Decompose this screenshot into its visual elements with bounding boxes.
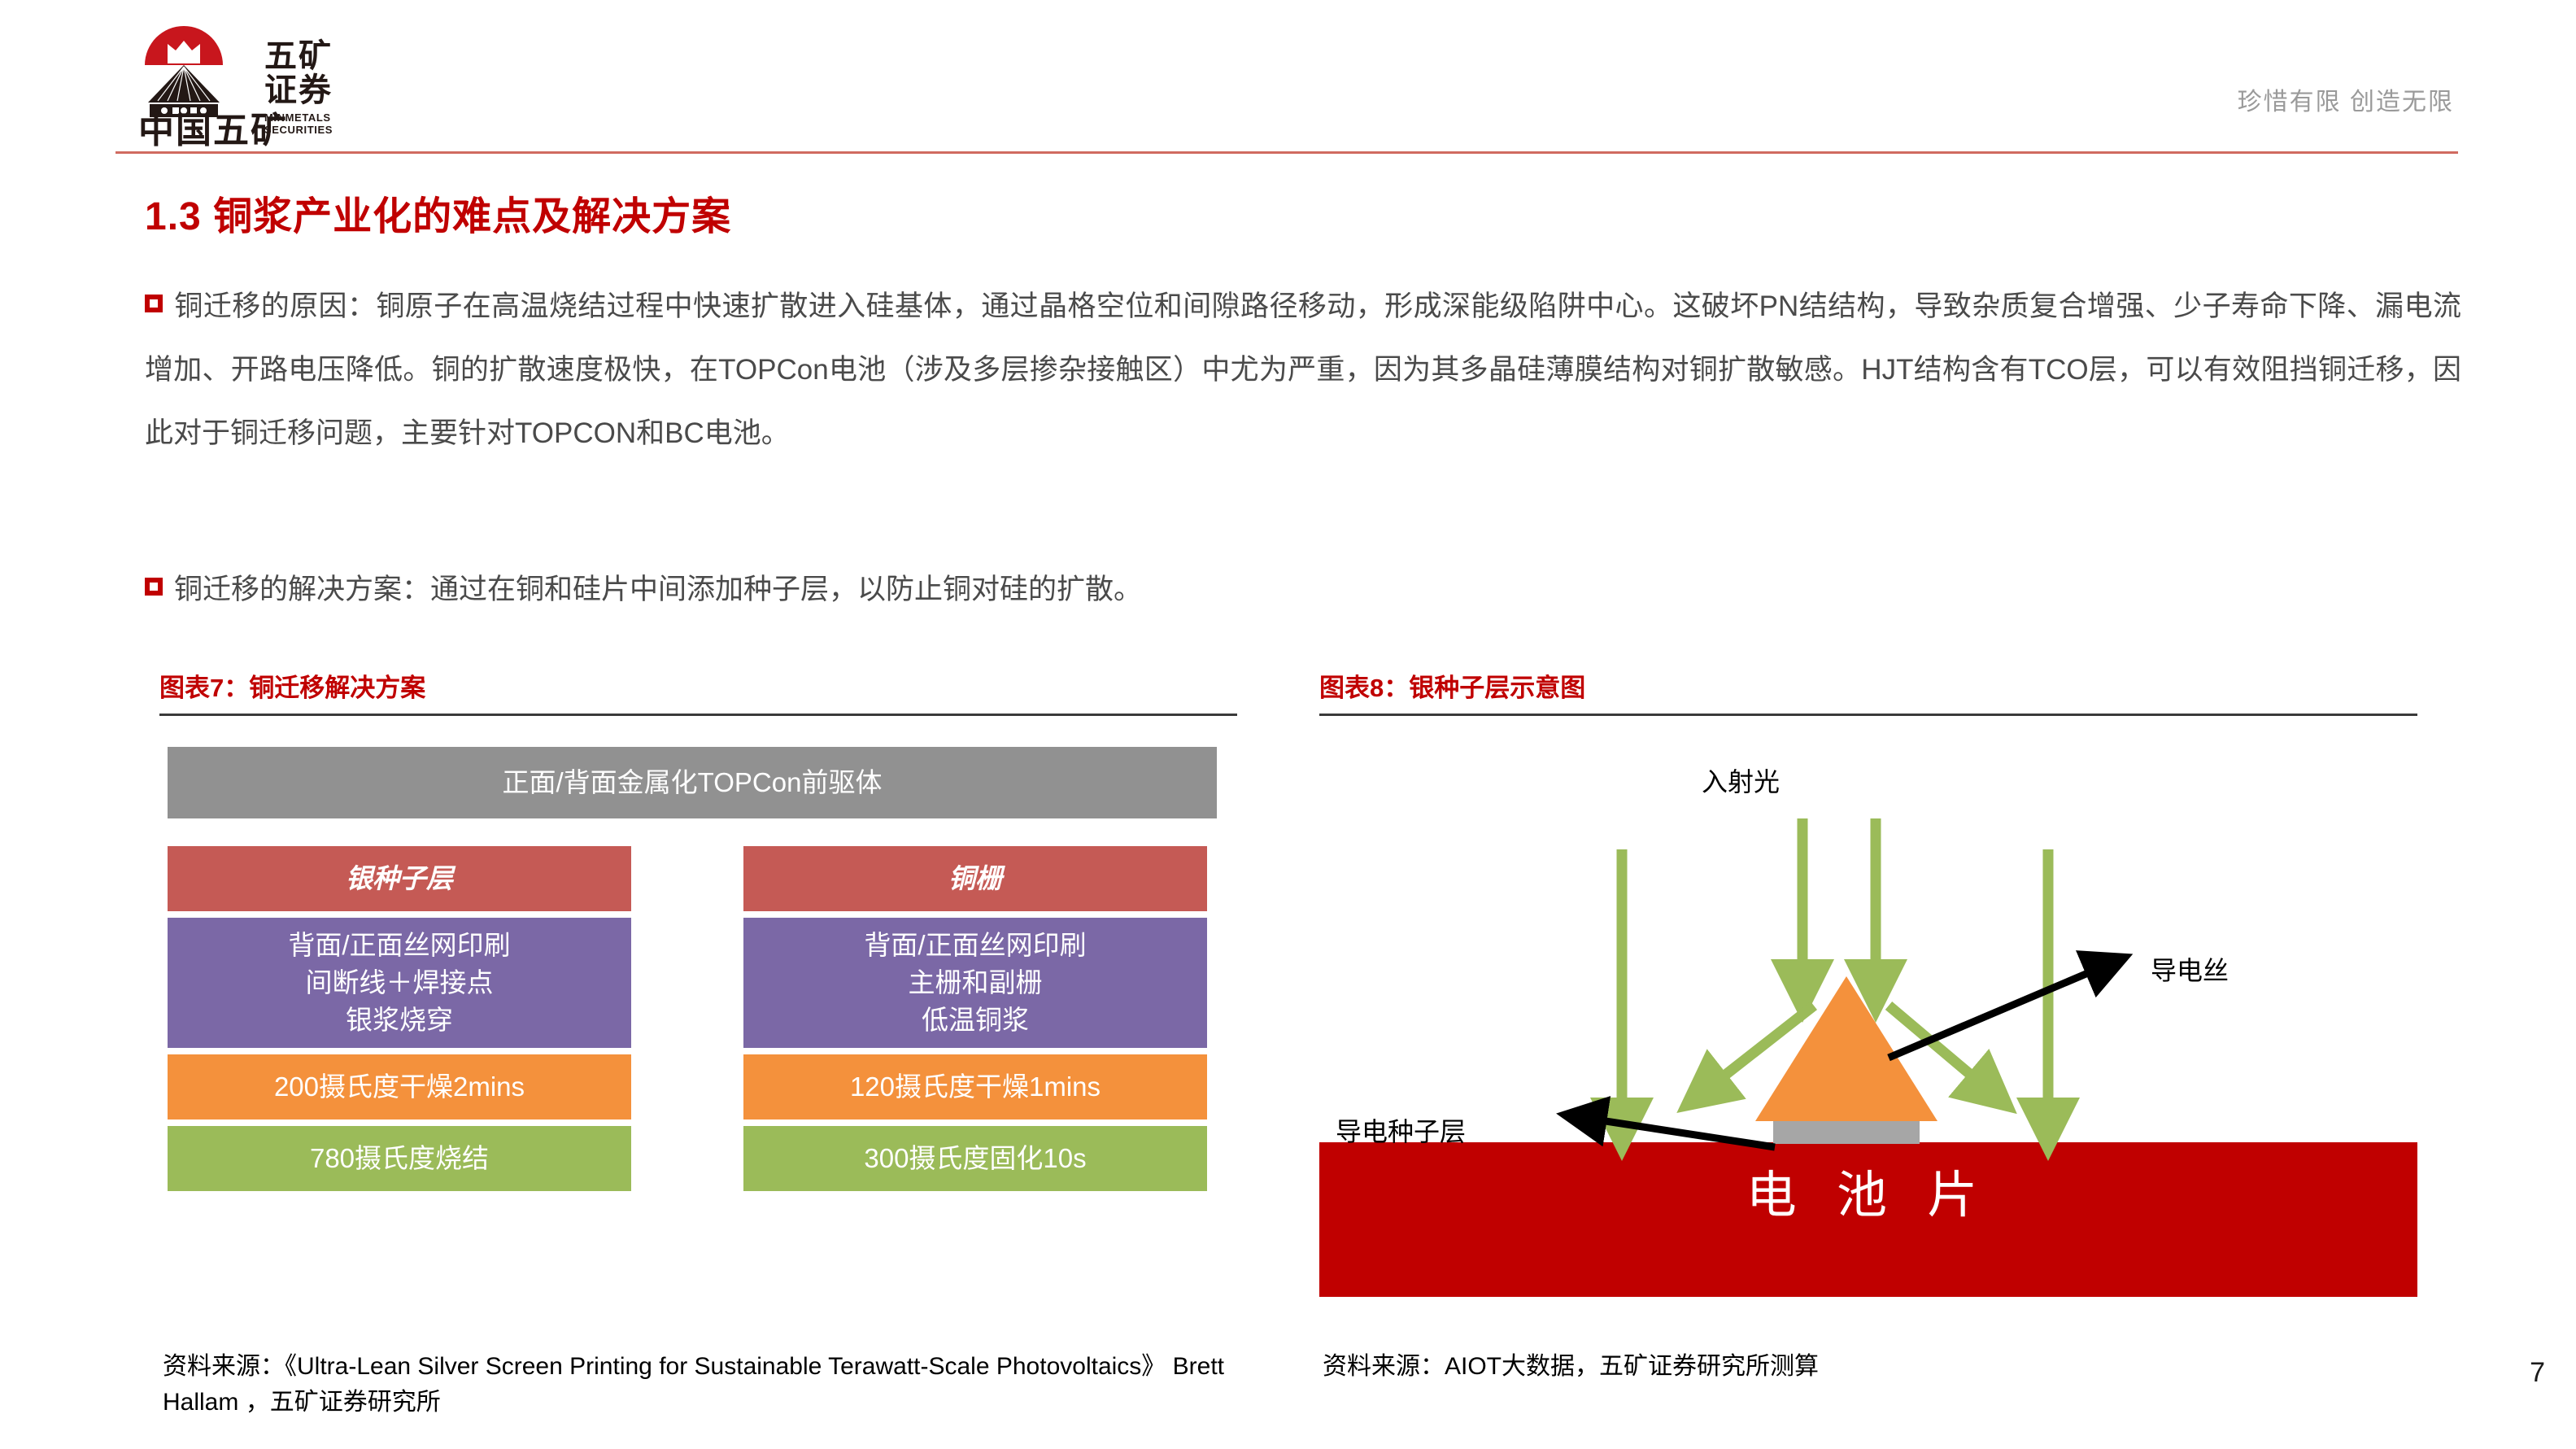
flow-box-screen-print-left: 背面/正面丝网印刷 间断线＋焊接点 银浆烧穿	[168, 918, 631, 1048]
flow-box-dry-right: 120摄氏度干燥1mins	[743, 1054, 1207, 1119]
logo-securities-name: 五矿证券 MINMETALS SECURITIES	[264, 39, 333, 136]
label-incident-light: 入射光	[1702, 762, 1780, 799]
page-header: 中国五矿 五矿证券 MINMETALS SECURITIES 珍惜有限 创造无限	[0, 0, 2576, 148]
company-logo: 中国五矿 五矿证券 MINMETALS SECURITIES	[138, 15, 229, 137]
flow-box-copper-grid: 铜栅	[743, 846, 1207, 911]
logo-cn-sub: MINMETALS SECURITIES	[264, 111, 333, 136]
figure-8-source: 资料来源：AIOT大数据，五矿证券研究所测算	[1323, 1349, 2421, 1385]
bullet-square-icon	[145, 295, 163, 312]
label-cell: 电 池 片	[1319, 1154, 2417, 1227]
flow-box-dry-left: 200摄氏度干燥2mins	[168, 1054, 631, 1119]
flow-box-cure-right: 300摄氏度固化10s	[743, 1126, 1207, 1191]
figure-8-caption: 图表8：银种子层示意图	[1319, 667, 2417, 714]
figure-7-caption: 图表7：铜迁移解决方案	[159, 667, 1237, 714]
figure-7-divider	[159, 714, 1237, 716]
bullet-square-icon	[145, 578, 163, 596]
figure-7: 图表7：铜迁移解决方案 正面/背面金属化TOPCon前驱体 银种子层 铜栅 背面…	[159, 667, 1237, 1300]
label-conductive-seed-layer: 导电种子层	[1336, 1111, 1466, 1149]
flow-box-fire-left: 780摄氏度烧结	[168, 1126, 631, 1191]
page-number: 7	[2530, 1357, 2545, 1389]
flow-box-screen-print-right: 背面/正面丝网印刷 主栅和副栅 低温铜浆	[743, 918, 1207, 1048]
flowchart-copper-migration-solution: 正面/背面金属化TOPCon前驱体 银种子层 铜栅 背面/正面丝网印刷 间断线＋…	[159, 747, 1237, 1300]
header-divider	[116, 151, 2458, 154]
flow-box-silver-seed-layer: 银种子层	[168, 846, 631, 911]
schematic-silver-seed-layer: 入射光 导电丝 导电种子层 电 池 片	[1319, 747, 2417, 1300]
paragraph-cause: 铜迁移的原因：铜原子在高温烧结过程中快速扩散进入硅基体，通过晶格空位和间隙路径移…	[145, 275, 2461, 465]
page-title: 1.3 铜浆产业化的难点及解决方案	[145, 184, 731, 241]
figure-8-divider	[1319, 714, 2417, 716]
paragraph-solution: 铜迁移的解决方案：通过在铜和硅片中间添加种子层，以防止铜对硅的扩散。	[145, 558, 2461, 622]
paragraph-solution-text: 铜迁移的解决方案：通过在铜和硅片中间添加种子层，以防止铜对硅的扩散。	[174, 574, 1142, 605]
header-slogan: 珍惜有限 创造无限	[2238, 81, 2454, 117]
logo-cn-main: 五矿证券	[264, 39, 333, 107]
figure-7-source: 资料来源：《Ultra-Lean Silver Screen Printing …	[163, 1349, 1261, 1421]
figure-8: 图表8：银种子层示意图	[1319, 667, 2417, 1300]
wire-pointer-arrow	[1889, 957, 2126, 1058]
paragraph-cause-text: 铜迁移的原因：铜原子在高温烧结过程中快速扩散进入硅基体，通过晶格空位和间隙路径移…	[145, 290, 2461, 449]
label-conductive-wire: 导电丝	[2151, 950, 2229, 988]
flow-box-precursor: 正面/背面金属化TOPCon前驱体	[168, 747, 1217, 818]
